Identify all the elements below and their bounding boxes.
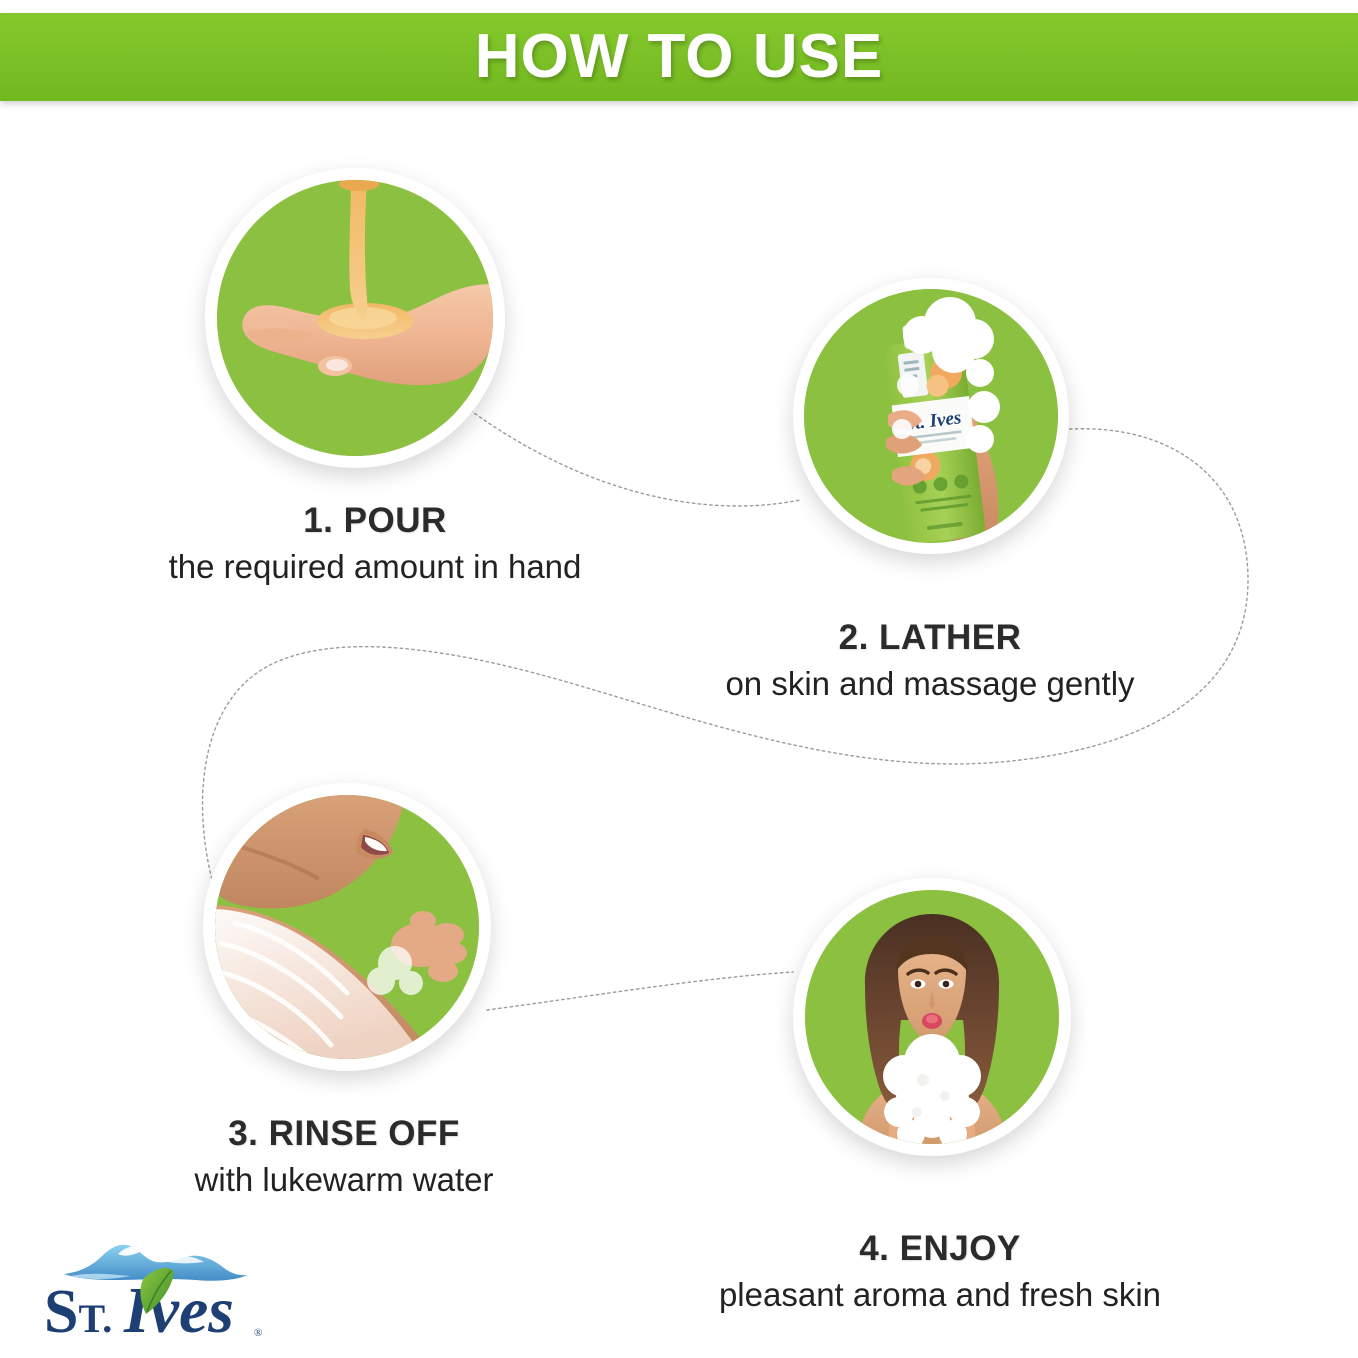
step-1-photo (205, 168, 505, 468)
step-1-subtitle: the required amount in hand (25, 547, 725, 587)
step-3-subtitle: with lukewarm water (34, 1160, 654, 1200)
step-4-subtitle: pleasant aroma and fresh skin (590, 1275, 1290, 1315)
enjoy-illustration (805, 890, 1059, 1144)
step-4-photo (793, 878, 1071, 1156)
logo-word-ives: Ives (123, 1274, 234, 1347)
step-4-title: 4. ENJOY (590, 1228, 1290, 1269)
step-3-title: 3. RINSE OFF (34, 1113, 654, 1154)
connector-1-to-2 (470, 410, 800, 506)
logo-registered-mark: ® (254, 1327, 262, 1339)
step-3-caption: 3. RINSE OFF with lukewarm water (34, 1113, 654, 1201)
st-ives-logo: ST. Ives ® (40, 1232, 270, 1348)
step-4-caption: 4. ENJOY pleasant aroma and fresh skin (590, 1228, 1290, 1316)
step-2-subtitle: on skin and massage gently (580, 664, 1280, 704)
rinse-illustration (215, 795, 479, 1059)
lather-illustration: St. Ives (804, 289, 1058, 543)
pour-illustration (217, 180, 493, 456)
step-2-title: 2. LATHER (580, 617, 1280, 658)
step-2-photo: St. Ives (793, 278, 1069, 554)
infographic-root: HOW TO USE (0, 0, 1358, 1358)
step-1-title: 1. POUR (25, 500, 725, 541)
step-2-caption: 2. LATHER on skin and massage gently (580, 617, 1280, 705)
st-ives-logo-mark: ST. Ives ® (40, 1232, 270, 1348)
step-3-photo (203, 783, 491, 1071)
header-banner: HOW TO USE (0, 13, 1358, 101)
woman-blowing-foam-image (805, 890, 1059, 1144)
shoulder-with-lather-image (215, 795, 479, 1059)
hand-with-poured-product-image (217, 180, 493, 456)
hand-holding-st-ives-bottle-image: St. Ives (804, 289, 1058, 543)
step-1-caption: 1. POUR the required amount in hand (25, 500, 725, 588)
logo-word-st: ST. (44, 1278, 112, 1346)
connector-3-to-4 (487, 972, 793, 1010)
page-title: HOW TO USE (475, 26, 883, 88)
